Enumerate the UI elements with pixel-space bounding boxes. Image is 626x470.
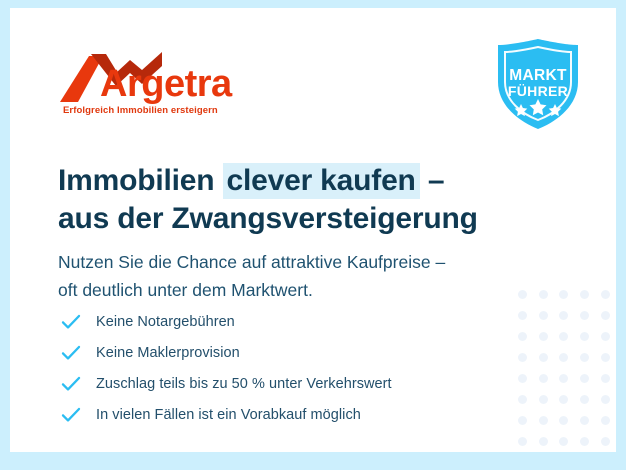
decoration-dot [539, 332, 548, 341]
headline: Immobilien clever kaufen – aus der Zwang… [58, 162, 558, 238]
decoration-dot [539, 395, 548, 404]
decoration-dot [580, 416, 589, 425]
headline-post: – [420, 164, 445, 197]
decoration-dot [601, 311, 610, 320]
decoration-dot [601, 395, 610, 404]
decoration-dot [601, 332, 610, 341]
decoration-dot [559, 290, 568, 299]
decoration-dot [580, 332, 589, 341]
decoration-dot [580, 374, 589, 383]
list-item: Keine Maklerprovision [60, 337, 530, 368]
decoration-dot [539, 374, 548, 383]
badge-line-1: MARKT [509, 67, 567, 84]
list-item: Keine Notargebühren [60, 306, 530, 337]
decoration-dot [601, 290, 610, 299]
headline-line-2: aus der Zwangsversteigerung [58, 200, 558, 238]
decoration-dot [559, 353, 568, 362]
list-item: Zuschlag teils bis zu 50 % unter Verkehr… [60, 368, 530, 399]
list-item: In vielen Fällen ist ein Vorabkauf mögli… [60, 399, 530, 430]
decoration-dot [601, 437, 610, 446]
decoration-dot [601, 374, 610, 383]
subheadline: Nutzen Sie die Chance auf attraktive Kau… [58, 248, 558, 305]
check-icon [60, 406, 82, 424]
check-icon [60, 313, 82, 331]
logo-tagline: Erfolgreich Immobilien ersteigern [63, 105, 218, 116]
subheadline-line-1: Nutzen Sie die Chance auf attraktive Kau… [58, 248, 558, 276]
decoration-dot [559, 395, 568, 404]
badge-line-2: FÜHRER [508, 83, 568, 99]
list-item-label: In vielen Fällen ist ein Vorabkauf mögli… [96, 407, 361, 423]
decoration-dot [601, 353, 610, 362]
promo-banner: Argetra Erfolgreich Immobilien ersteiger… [0, 0, 626, 470]
list-item-label: Keine Notargebühren [96, 314, 235, 330]
decoration-dot [580, 290, 589, 299]
banner-canvas: Argetra Erfolgreich Immobilien ersteiger… [10, 8, 616, 452]
decoration-dot [580, 311, 589, 320]
decoration-dot [559, 416, 568, 425]
decoration-dot [580, 395, 589, 404]
decoration-dot [559, 311, 568, 320]
decoration-dot [580, 353, 589, 362]
benefits-checklist: Keine Notargebühren Keine Maklerprovisio… [60, 306, 530, 430]
decoration-dot [539, 311, 548, 320]
decoration-dot [539, 416, 548, 425]
argetra-logo[interactable]: Argetra Erfolgreich Immobilien ersteiger… [58, 50, 248, 120]
decoration-dot [518, 437, 527, 446]
check-icon [60, 375, 82, 393]
argetra-roof-arrow-icon: Argetra [58, 50, 248, 106]
list-item-label: Keine Maklerprovision [96, 345, 240, 361]
decoration-dot [559, 437, 568, 446]
headline-pre: Immobilien [58, 164, 223, 197]
headline-line-1: Immobilien clever kaufen – [58, 162, 558, 200]
shield-icon: MARKT FÜHRER [490, 36, 586, 132]
decoration-dot [559, 332, 568, 341]
check-icon [60, 344, 82, 362]
market-leader-badge: MARKT FÜHRER [490, 36, 586, 132]
subheadline-line-2: oft deutlich unter dem Marktwert. [58, 276, 558, 304]
decoration-dot [539, 437, 548, 446]
svg-text:Argetra: Argetra [100, 63, 233, 105]
decoration-dot [539, 353, 548, 362]
decoration-dot [601, 416, 610, 425]
headline-highlight: clever kaufen [223, 163, 420, 199]
decoration-dot [559, 374, 568, 383]
list-item-label: Zuschlag teils bis zu 50 % unter Verkehr… [96, 376, 392, 392]
decoration-dot [580, 437, 589, 446]
